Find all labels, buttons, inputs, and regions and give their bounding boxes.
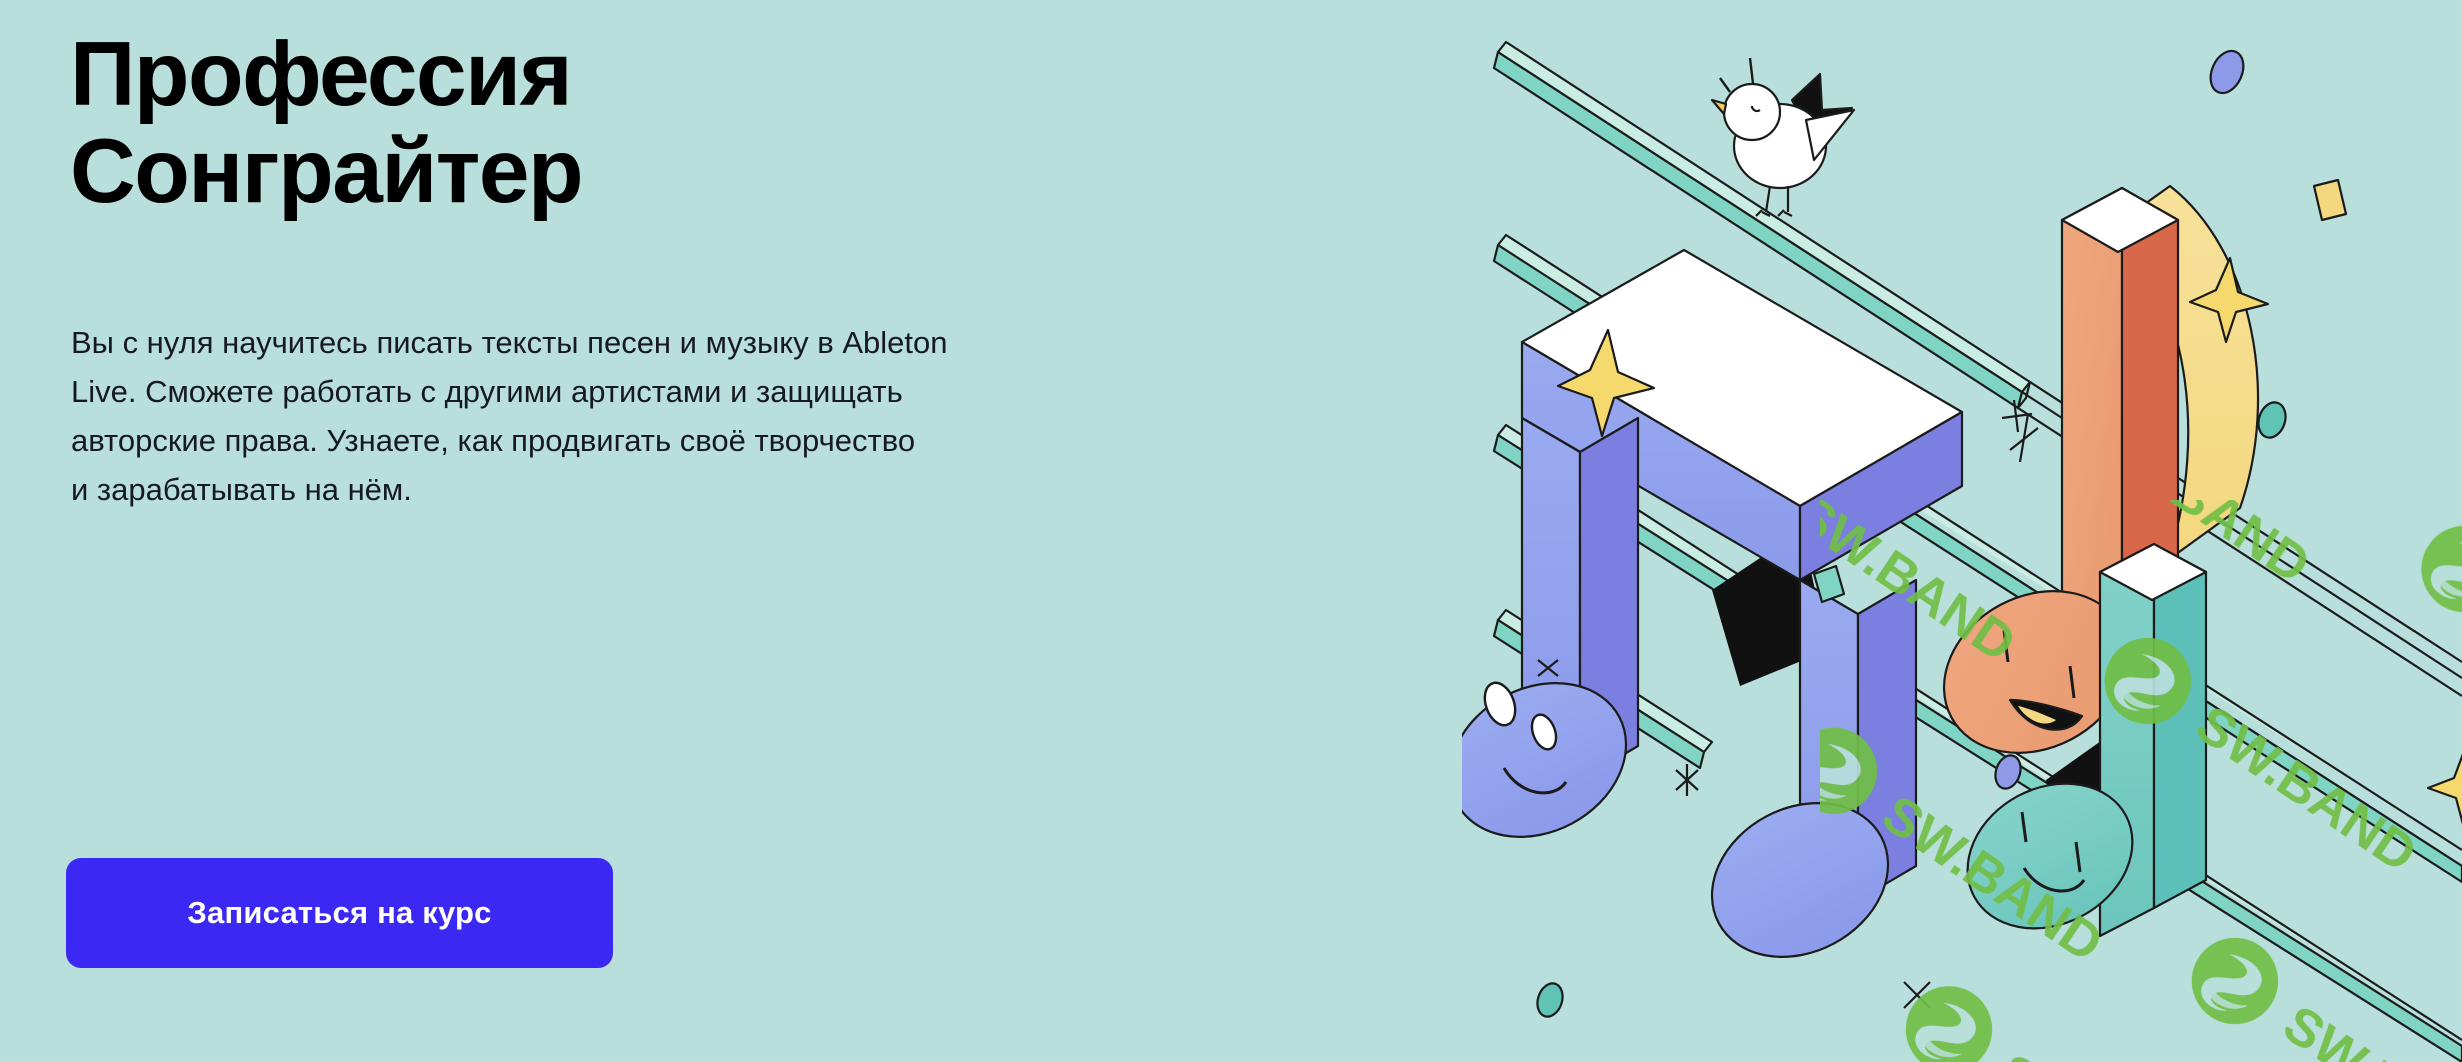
hero-description: Вы с нуля научитесь писать тексты песен … [71, 318, 1191, 514]
page-title: Профессия Сонграйтер [70, 26, 582, 221]
isometric-music-notes-svg [1462, 0, 2462, 1062]
beamed-double-note-blue [1462, 250, 1962, 987]
hero-illustration [1462, 0, 2462, 1062]
enroll-button[interactable]: Записаться на курс [66, 858, 613, 968]
hero-section: Профессия Сонграйтер Вы с нуля научитесь… [0, 0, 2462, 1062]
hero-copy: Профессия Сонграйтер Вы с нуля научитесь… [66, 0, 1186, 1062]
